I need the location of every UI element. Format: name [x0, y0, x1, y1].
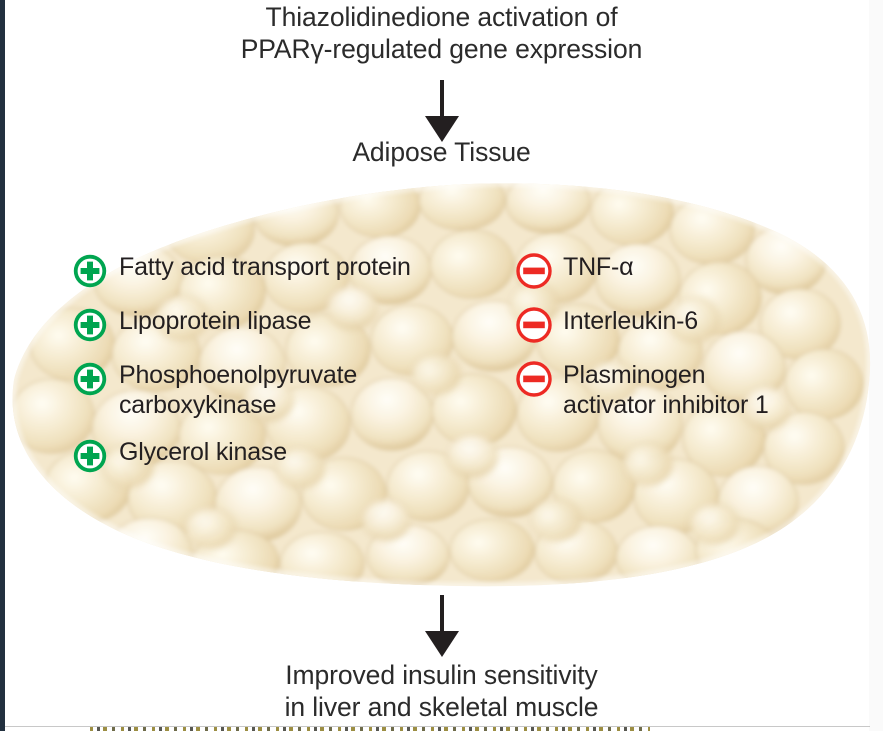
down-arrow-icon-top — [424, 80, 460, 142]
list-item: Fatty acid transport protein — [72, 252, 522, 289]
list-item-label: TNF-α — [563, 252, 633, 283]
list-item: Phosphoenolpyruvate carboxykinase — [72, 360, 522, 420]
bottom-caption: Improved insulin sensitivity in liver an… — [0, 660, 883, 724]
list-item: Plasminogen activator inhibitor 1 — [516, 360, 866, 420]
list-item: TNF-α — [516, 252, 866, 289]
list-item: Glycerol kinase — [72, 437, 522, 474]
list-item-label: Glycerol kinase — [119, 437, 287, 468]
figure-canvas: Thiazolidinedione activation of PPARγ-re… — [0, 0, 883, 731]
upregulated-factor-list: Fatty acid transport protein Lipoprotein… — [72, 252, 522, 491]
arrow-head — [425, 631, 459, 657]
plus-circle-icon — [72, 253, 108, 289]
list-item: Interleukin-6 — [516, 306, 866, 343]
list-item-label: Phosphoenolpyruvate carboxykinase — [119, 360, 357, 420]
plus-circle-icon — [72, 438, 108, 474]
list-item-label: Plasminogen activator inhibitor 1 — [563, 360, 769, 420]
minus-circle-icon — [516, 307, 552, 343]
clipped-text-strip — [90, 727, 650, 731]
list-item: Lipoprotein lipase — [72, 306, 522, 343]
top-caption: Thiazolidinedione activation of PPARγ-re… — [0, 2, 883, 66]
downregulated-factor-list: TNF-α Interleukin-6 Plasminogen activato… — [516, 252, 866, 437]
minus-circle-icon — [516, 253, 552, 289]
list-item-label: Lipoprotein lipase — [119, 306, 311, 337]
plus-circle-icon — [72, 361, 108, 397]
list-item-label: Interleukin-6 — [563, 306, 698, 337]
down-arrow-icon-bottom — [424, 595, 460, 657]
arrow-shaft — [440, 80, 444, 118]
list-item-label: Fatty acid transport protein — [119, 252, 411, 283]
minus-circle-icon — [516, 361, 552, 397]
arrow-shaft — [440, 595, 444, 633]
plus-circle-icon — [72, 307, 108, 343]
adipose-tissue-label: Adipose Tissue — [0, 137, 883, 169]
